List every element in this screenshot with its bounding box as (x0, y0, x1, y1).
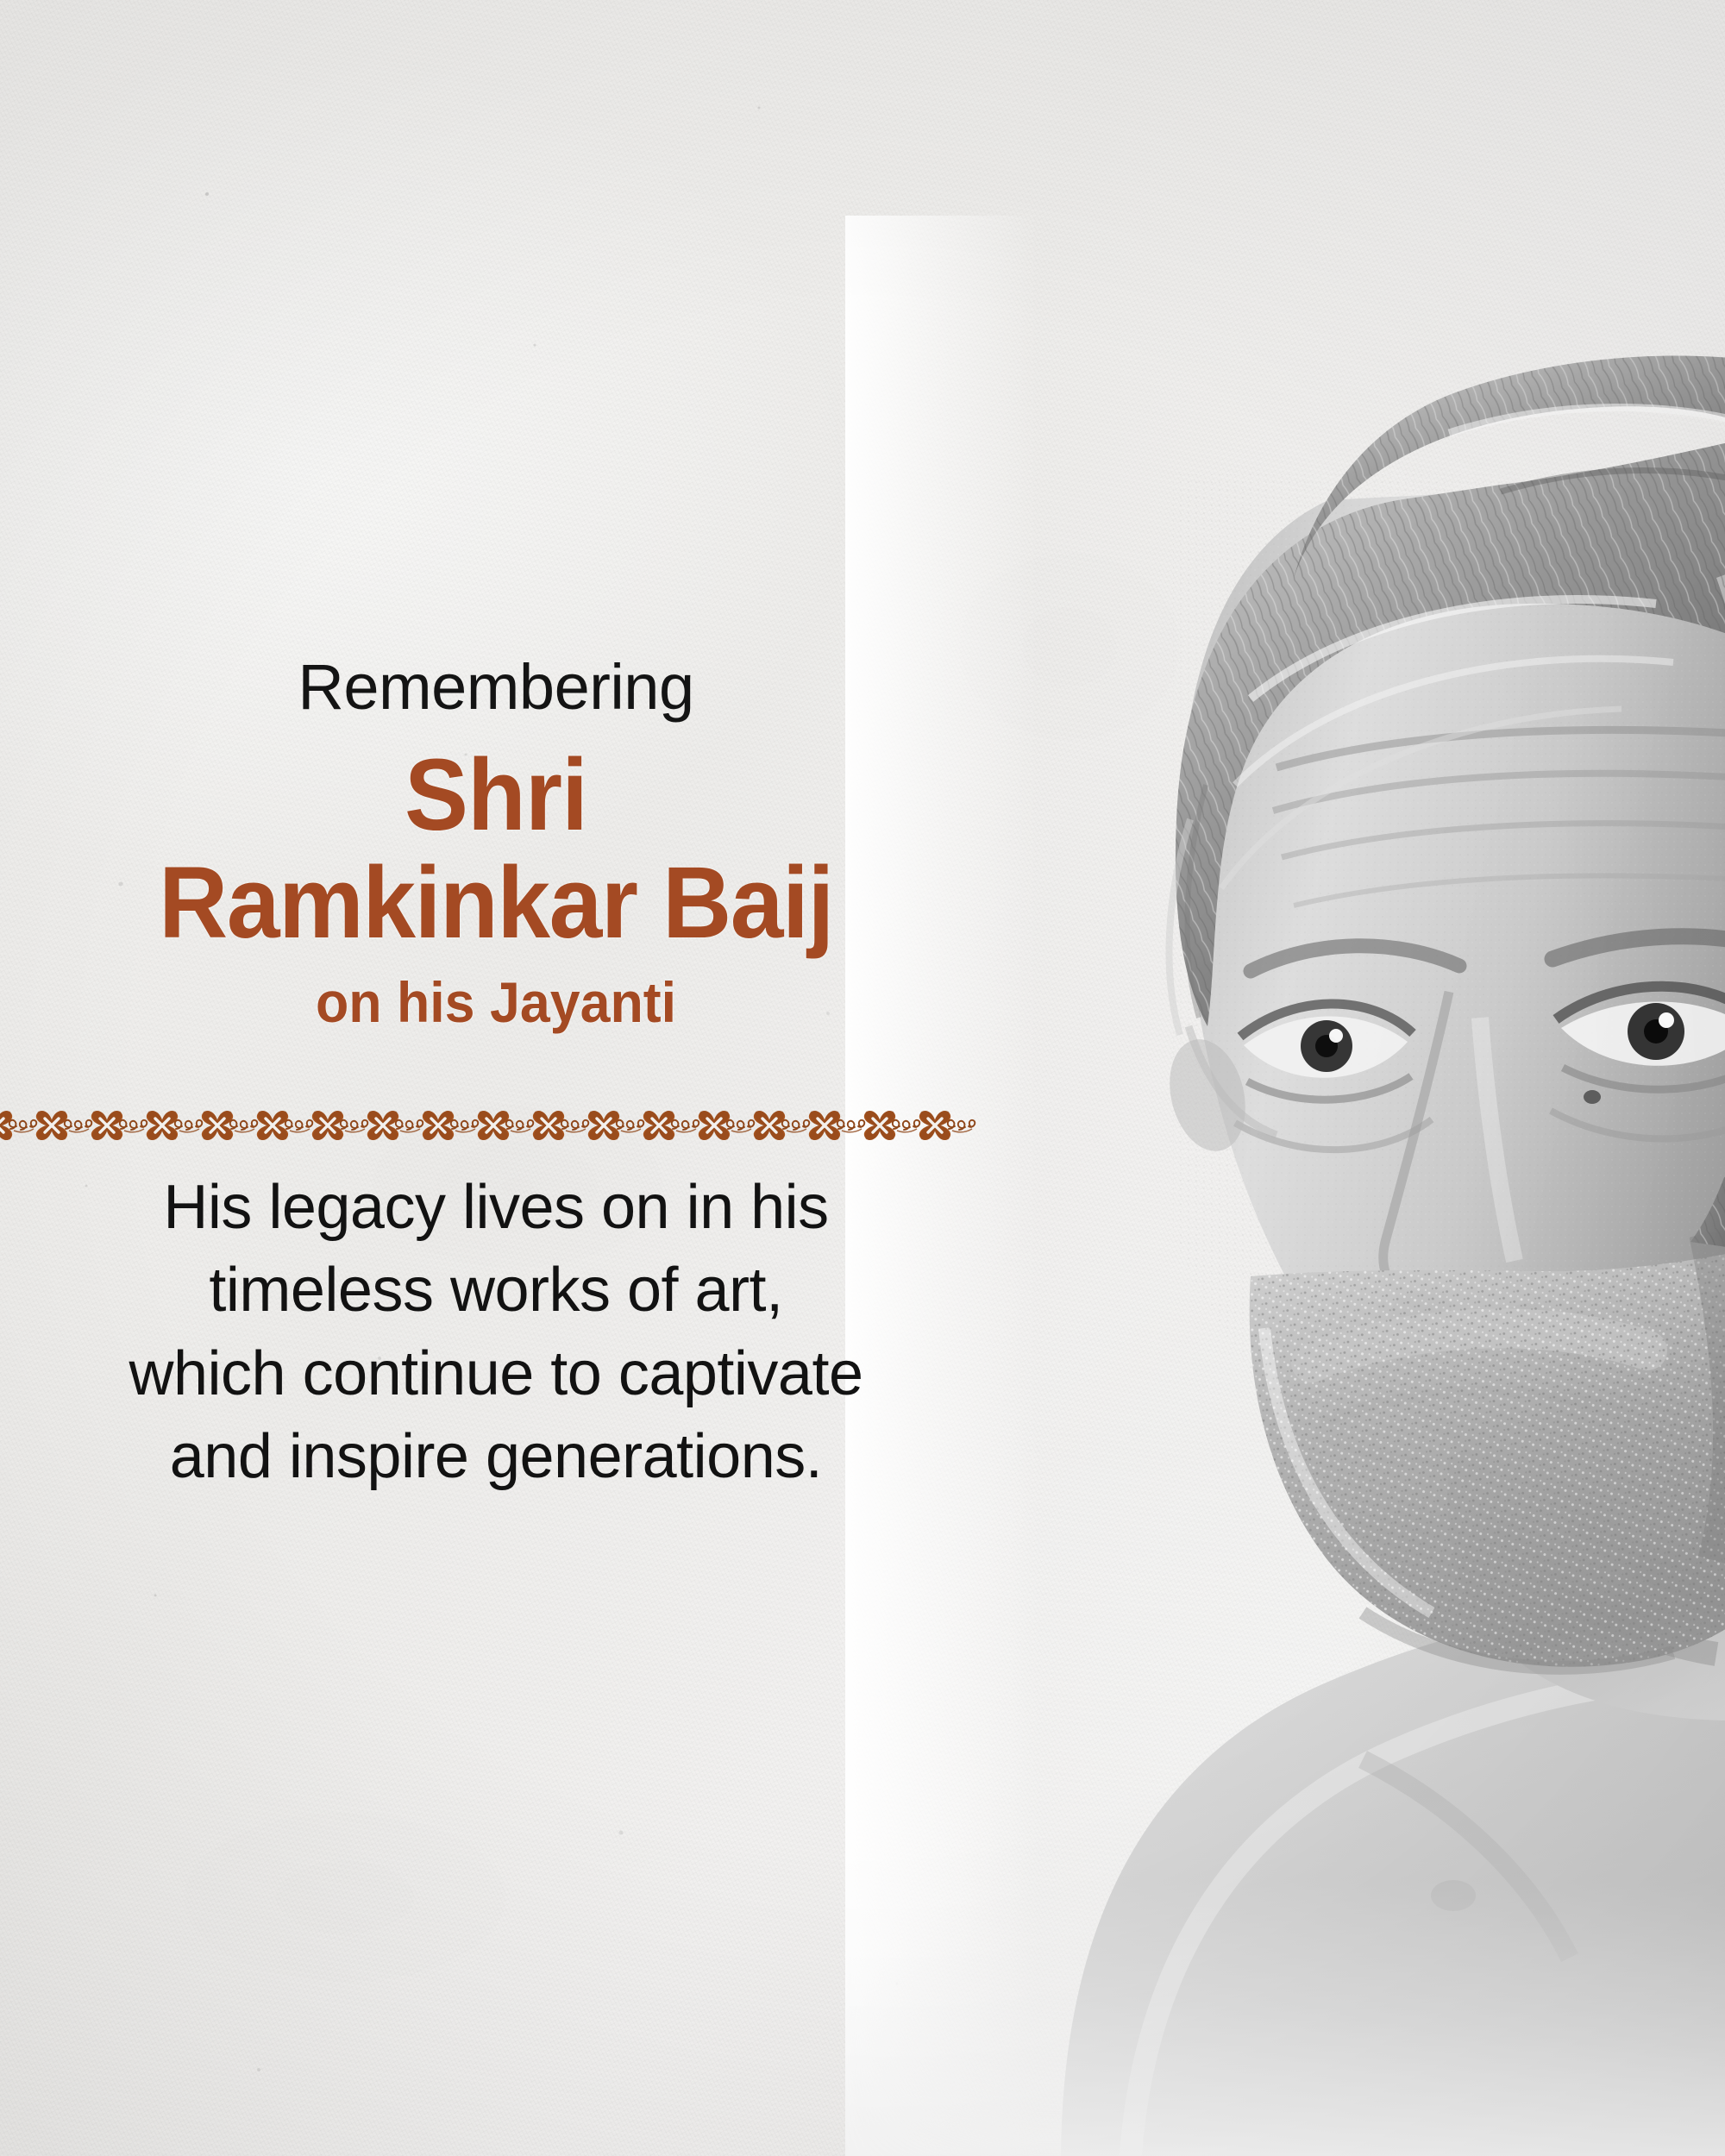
vignette-overlay (0, 0, 1725, 2156)
body-line: which continue to captivate (0, 1332, 992, 1415)
body-line: and inspire generations. (0, 1415, 992, 1498)
ornamental-divider (0, 1102, 992, 1149)
headline-block: Remembering Shri Ramkinkar Baij on his J… (0, 655, 992, 1034)
body-line: His legacy lives on in his (0, 1166, 992, 1249)
honorific-text: Shri (30, 742, 963, 849)
body-copy-block: His legacy lives on in his timeless work… (0, 1166, 992, 1499)
person-name-text: Ramkinkar Baij (30, 849, 963, 957)
occasion-text: on his Jayanti (25, 971, 968, 1034)
poster-canvas: Remembering Shri Ramkinkar Baij on his J… (0, 0, 1725, 2156)
body-line: timeless works of art, (0, 1249, 992, 1332)
kicker-text: Remembering (0, 655, 992, 719)
